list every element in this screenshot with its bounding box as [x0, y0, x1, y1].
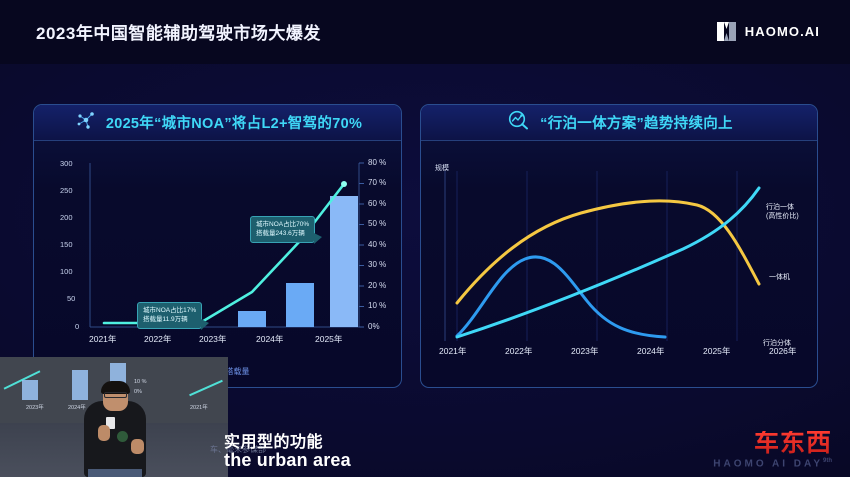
subtitle-chinese: 实用型的功能 [224, 428, 323, 452]
pip-xtick-2: 2024年 [68, 403, 86, 411]
presenter-shirt-logo [117, 431, 128, 442]
right-ytick-30: 30 % [368, 260, 386, 269]
presenter-hand-left [98, 425, 110, 441]
left-ytick-300: 300 [60, 159, 73, 168]
presenter-glasses-icon [104, 392, 127, 398]
right-xtick-2022: 2022年 [505, 345, 532, 357]
left-ytick-150: 150 [60, 240, 73, 249]
left-xtick-2022: 2022年 [144, 333, 171, 345]
series-label-xingboyiti: 行泊一体 (高性价比) [766, 203, 799, 222]
right-ytick-0: 0% [368, 322, 380, 331]
callout-2025: 城市NOA占比70% 搭载量243.6万辆 [250, 216, 315, 243]
callout-2025-line1: 城市NOA占比70% [256, 220, 309, 229]
magnifier-chart-icon [507, 110, 531, 135]
watermark: 车东西 HAOMO AI DAY9th [713, 431, 832, 469]
left-chart-graphic [34, 141, 402, 388]
left-panel-title: 2025年“城市NOA”将占L2+智驾的70% [106, 112, 362, 133]
left-panel-body: 300 250 200 150 100 50 0 80 % 70 % 60 % … [34, 141, 401, 387]
left-xtick-2023: 2023年 [199, 333, 226, 345]
watermark-event-text: HAOMO AI DAY [713, 458, 823, 469]
callout-2023-line2: 搭载量11.9万辆 [143, 315, 196, 324]
bar-2024 [286, 283, 314, 327]
watermark-event: HAOMO AI DAY9th [713, 458, 832, 469]
right-panel-title: “行泊一体方案”趋势持续向上 [540, 112, 733, 133]
bar-2025 [330, 196, 358, 327]
right-xtick-2024: 2024年 [637, 345, 664, 357]
series-yitiji-line [457, 201, 759, 303]
presenter-video-overlay[interactable]: 2023年 2024年 2021年 10 % 0% [0, 357, 228, 477]
right-yaxis-label: 规模 [435, 163, 449, 173]
right-panel-body: 规模 行泊一体 (高性价比) 一体机 行泊分体 2021年 2022年 2023… [421, 141, 817, 387]
series-label-xingboyiti-note: (高性价比) [766, 212, 799, 221]
right-xtick-2025: 2025年 [703, 345, 730, 357]
left-ytick-0: 0 [75, 322, 79, 331]
right-chart-graphic [421, 141, 818, 388]
subtitle-english: the urban area [224, 450, 351, 471]
right-xtick-2026: 2026年 [769, 345, 796, 357]
brand: HAOMO.AI [715, 20, 820, 43]
legend-label-zaiche: 搭载量 [226, 366, 250, 377]
left-ytick-50: 50 [67, 294, 75, 303]
pip-xtick-1: 2023年 [26, 403, 44, 411]
watermark-logo: 车东西 [713, 431, 832, 456]
left-ytick-250: 250 [60, 186, 73, 195]
presenter-hand-right [131, 439, 144, 454]
series-xingboyiti-line [457, 188, 759, 337]
right-ytick-80: 80 % [368, 158, 386, 167]
left-panel-header: 2025年“城市NOA”将占L2+智驾的70% [34, 105, 401, 141]
noa-share-endpoint [341, 181, 347, 187]
watermark-edition: 9th [823, 458, 832, 464]
pip-line-right [189, 380, 223, 396]
right-ytick-40: 40 % [368, 240, 386, 249]
left-ytick-200: 200 [60, 213, 73, 222]
molecule-network-icon [75, 110, 97, 135]
callout-2023-line1: 城市NOA占比17% [143, 306, 196, 315]
callout-tail-icon [314, 233, 322, 244]
left-chart-panel: 2025年“城市NOA”将占L2+智驾的70% [33, 104, 402, 388]
right-xtick-2023: 2023年 [571, 345, 598, 357]
left-xtick-2025: 2025年 [315, 333, 342, 345]
left-xtick-2024: 2024年 [256, 333, 283, 345]
right-ytick-70: 70 % [368, 178, 386, 187]
pip-ytick-2: 0% [134, 389, 142, 395]
series-label-yitiji: 一体机 [769, 273, 790, 282]
pip-xtick-3: 2021年 [190, 403, 208, 411]
page-title: 2023年中国智能辅助驾驶市场大爆发 [36, 19, 321, 44]
left-xtick-2021: 2021年 [89, 333, 116, 345]
slide-root: 2023年中国智能辅助驾驶市场大爆发 HAOMO.AI [0, 0, 850, 477]
callout-2023: 城市NOA占比17% 搭载量11.9万辆 [137, 302, 202, 329]
slide-header: 2023年中国智能辅助驾驶市场大爆发 HAOMO.AI [0, 0, 850, 64]
bar-2023 [238, 311, 266, 327]
haomo-m-logo-icon [715, 20, 738, 43]
pip-ytick-1: 10 % [134, 379, 147, 385]
presenter-jeans [88, 469, 142, 477]
right-ytick-10: 10 % [368, 301, 386, 310]
pip-bar-1 [22, 380, 38, 400]
right-panel-header: “行泊一体方案”趋势持续向上 [421, 105, 817, 141]
right-chart-panel: “行泊一体方案”趋势持续向上 [420, 104, 818, 388]
pip-bar-2 [72, 370, 88, 400]
callout-2025-line2: 搭载量243.6万辆 [256, 229, 309, 238]
brand-name: HAOMO.AI [745, 24, 820, 39]
right-xtick-2021: 2021年 [439, 345, 466, 357]
right-ytick-50: 50 % [368, 219, 386, 228]
right-ytick-20: 20 % [368, 281, 386, 290]
left-ytick-100: 100 [60, 267, 73, 276]
right-ytick-60: 60 % [368, 199, 386, 208]
callout-tail-icon [201, 319, 209, 330]
series-label-xingboyiti-name: 行泊一体 [766, 203, 799, 212]
